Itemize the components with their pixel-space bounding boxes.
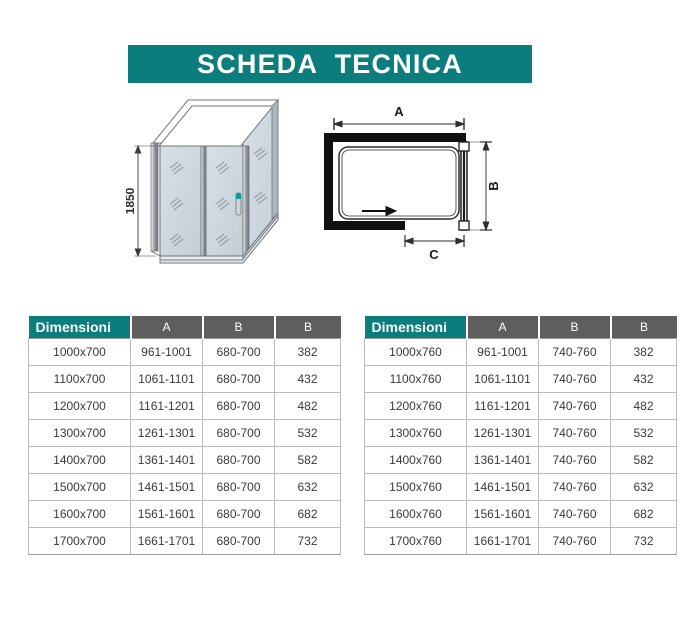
cell-dimensione: 1000x760 [365, 339, 467, 366]
cell-dimensione: 1200x760 [365, 393, 467, 420]
front-glass-panels [160, 146, 243, 256]
cell-b1: 740-760 [539, 393, 611, 420]
cell-b2: 382 [611, 339, 677, 366]
cell-dimensione: 1400x760 [365, 447, 467, 474]
cell-a: 1061-1101 [131, 366, 203, 393]
shower-enclosure-isometric-diagram: 1850 [126, 88, 316, 278]
cell-b1: 680-700 [203, 366, 275, 393]
cell-dimensione: 1500x700 [29, 474, 131, 501]
table-row: 1300x760 1261-1301 740-760 532 [365, 420, 677, 447]
dimension-a [334, 118, 464, 130]
cell-b1: 740-760 [539, 528, 611, 555]
table-row: 1400x760 1361-1401 740-760 582 [365, 447, 677, 474]
spec-table-760-body: 1000x760 961-1001 740-760 382 1100x760 1… [365, 339, 677, 555]
cell-b1: 680-700 [203, 420, 275, 447]
enclosure-back-post [151, 143, 158, 251]
cell-b2: 732 [275, 528, 341, 555]
cell-a: 1361-1401 [467, 447, 539, 474]
dimension-c-label: C [429, 247, 439, 262]
column-header-dimensioni: Dimensioni [365, 316, 467, 339]
cell-dimensione: 1700x760 [365, 528, 467, 555]
table-row: 1500x700 1461-1501 680-700 632 [29, 474, 341, 501]
page-title: SCHEDA TECNICA [197, 49, 463, 80]
spec-table-760-wrapper: Dimensioni A B B 1000x760 961-1001 740-7… [364, 316, 676, 555]
diagrams-region: 1850 A [0, 88, 700, 288]
table-row: 1600x760 1561-1601 740-760 682 [365, 501, 677, 528]
cell-a: 1161-1201 [131, 393, 203, 420]
cell-b1: 680-700 [203, 393, 275, 420]
table-row: 1700x700 1661-1701 680-700 732 [29, 528, 341, 555]
cell-a: 1161-1201 [467, 393, 539, 420]
dimension-b-label: B [486, 181, 501, 190]
sliding-door-profile [459, 142, 469, 230]
cell-dimensione: 1100x700 [29, 366, 131, 393]
cell-b1: 680-700 [203, 339, 275, 366]
cell-b2: 632 [275, 474, 341, 501]
cell-a: 1661-1701 [467, 528, 539, 555]
cell-b1: 680-700 [203, 447, 275, 474]
cell-a: 961-1001 [131, 339, 203, 366]
table-row: 1500x760 1461-1501 740-760 632 [365, 474, 677, 501]
cell-b2: 532 [611, 420, 677, 447]
cell-b2: 482 [275, 393, 341, 420]
table-row: 1200x760 1161-1201 740-760 482 [365, 393, 677, 420]
cell-b1: 740-760 [539, 339, 611, 366]
column-header-a: A [467, 316, 539, 339]
table-row: 1100x760 1061-1101 740-760 432 [365, 366, 677, 393]
cell-b2: 682 [275, 501, 341, 528]
cell-b2: 582 [275, 447, 341, 474]
cell-b1: 740-760 [539, 447, 611, 474]
column-header-b2: B [611, 316, 677, 339]
cell-b1: 680-700 [203, 528, 275, 555]
cell-dimensione: 1100x760 [365, 366, 467, 393]
cell-a: 1361-1401 [131, 447, 203, 474]
cell-dimensione: 1000x700 [29, 339, 131, 366]
spec-table-700: Dimensioni A B B 1000x700 961-1001 680-7… [28, 316, 341, 555]
cell-b2: 582 [611, 447, 677, 474]
table-header-row: Dimensioni A B B [29, 316, 341, 339]
spec-table-760: Dimensioni A B B 1000x760 961-1001 740-7… [364, 316, 677, 555]
table-row: 1000x700 961-1001 680-700 382 [29, 339, 341, 366]
cell-b1: 680-700 [203, 501, 275, 528]
cell-a: 1061-1101 [467, 366, 539, 393]
cell-a: 1461-1501 [131, 474, 203, 501]
cell-b2: 682 [611, 501, 677, 528]
cell-b2: 732 [611, 528, 677, 555]
slide-direction-arrow [362, 207, 396, 216]
column-header-a: A [131, 316, 203, 339]
table-row: 1600x700 1561-1601 680-700 682 [29, 501, 341, 528]
spec-table-700-wrapper: Dimensioni A B B 1000x700 961-1001 680-7… [28, 316, 340, 555]
table-header-row: Dimensioni A B B [365, 316, 677, 339]
table-row: 1300x700 1261-1301 680-700 532 [29, 420, 341, 447]
cell-b2: 432 [611, 366, 677, 393]
shower-enclosure-plan-diagram: A [318, 102, 508, 272]
cell-dimensione: 1700x700 [29, 528, 131, 555]
cell-a: 1661-1701 [131, 528, 203, 555]
table-row: 1000x760 961-1001 740-760 382 [365, 339, 677, 366]
table-row: 1200x700 1161-1201 680-700 482 [29, 393, 341, 420]
cell-b2: 632 [611, 474, 677, 501]
cell-b1: 740-760 [539, 501, 611, 528]
cell-a: 961-1001 [467, 339, 539, 366]
cell-b2: 532 [275, 420, 341, 447]
door-handle [236, 193, 241, 215]
table-row: 1100x700 1061-1101 680-700 432 [29, 366, 341, 393]
cell-dimensione: 1500x760 [365, 474, 467, 501]
height-dimension-label: 1850 [126, 187, 137, 214]
cell-a: 1561-1601 [131, 501, 203, 528]
table-row: 1700x760 1661-1701 740-760 732 [365, 528, 677, 555]
cell-a: 1561-1601 [467, 501, 539, 528]
cell-b1: 680-700 [203, 474, 275, 501]
dimension-c [405, 235, 464, 247]
dimension-a-label: A [394, 104, 404, 119]
spec-table-700-body: 1000x700 961-1001 680-700 382 1100x700 1… [29, 339, 341, 555]
table-row: 1400x700 1361-1401 680-700 582 [29, 447, 341, 474]
column-header-dimensioni: Dimensioni [29, 316, 131, 339]
title-banner: SCHEDA TECNICA [128, 45, 532, 83]
cell-b2: 432 [275, 366, 341, 393]
cell-dimensione: 1600x760 [365, 501, 467, 528]
cell-dimensione: 1600x700 [29, 501, 131, 528]
cell-b1: 740-760 [539, 474, 611, 501]
cell-b1: 740-760 [539, 366, 611, 393]
cell-a: 1261-1301 [131, 420, 203, 447]
cell-a: 1261-1301 [467, 420, 539, 447]
cell-b2: 382 [275, 339, 341, 366]
cell-b2: 482 [611, 393, 677, 420]
cell-dimensione: 1300x700 [29, 420, 131, 447]
cell-dimensione: 1400x700 [29, 447, 131, 474]
column-header-b1: B [539, 316, 611, 339]
cell-dimensione: 1300x760 [365, 420, 467, 447]
cell-a: 1461-1501 [467, 474, 539, 501]
shower-tray-outline [339, 147, 459, 219]
cell-dimensione: 1200x700 [29, 393, 131, 420]
column-header-b1: B [203, 316, 275, 339]
cell-b1: 740-760 [539, 420, 611, 447]
column-header-b2: B [275, 316, 341, 339]
enclosure-front-post [243, 146, 249, 256]
